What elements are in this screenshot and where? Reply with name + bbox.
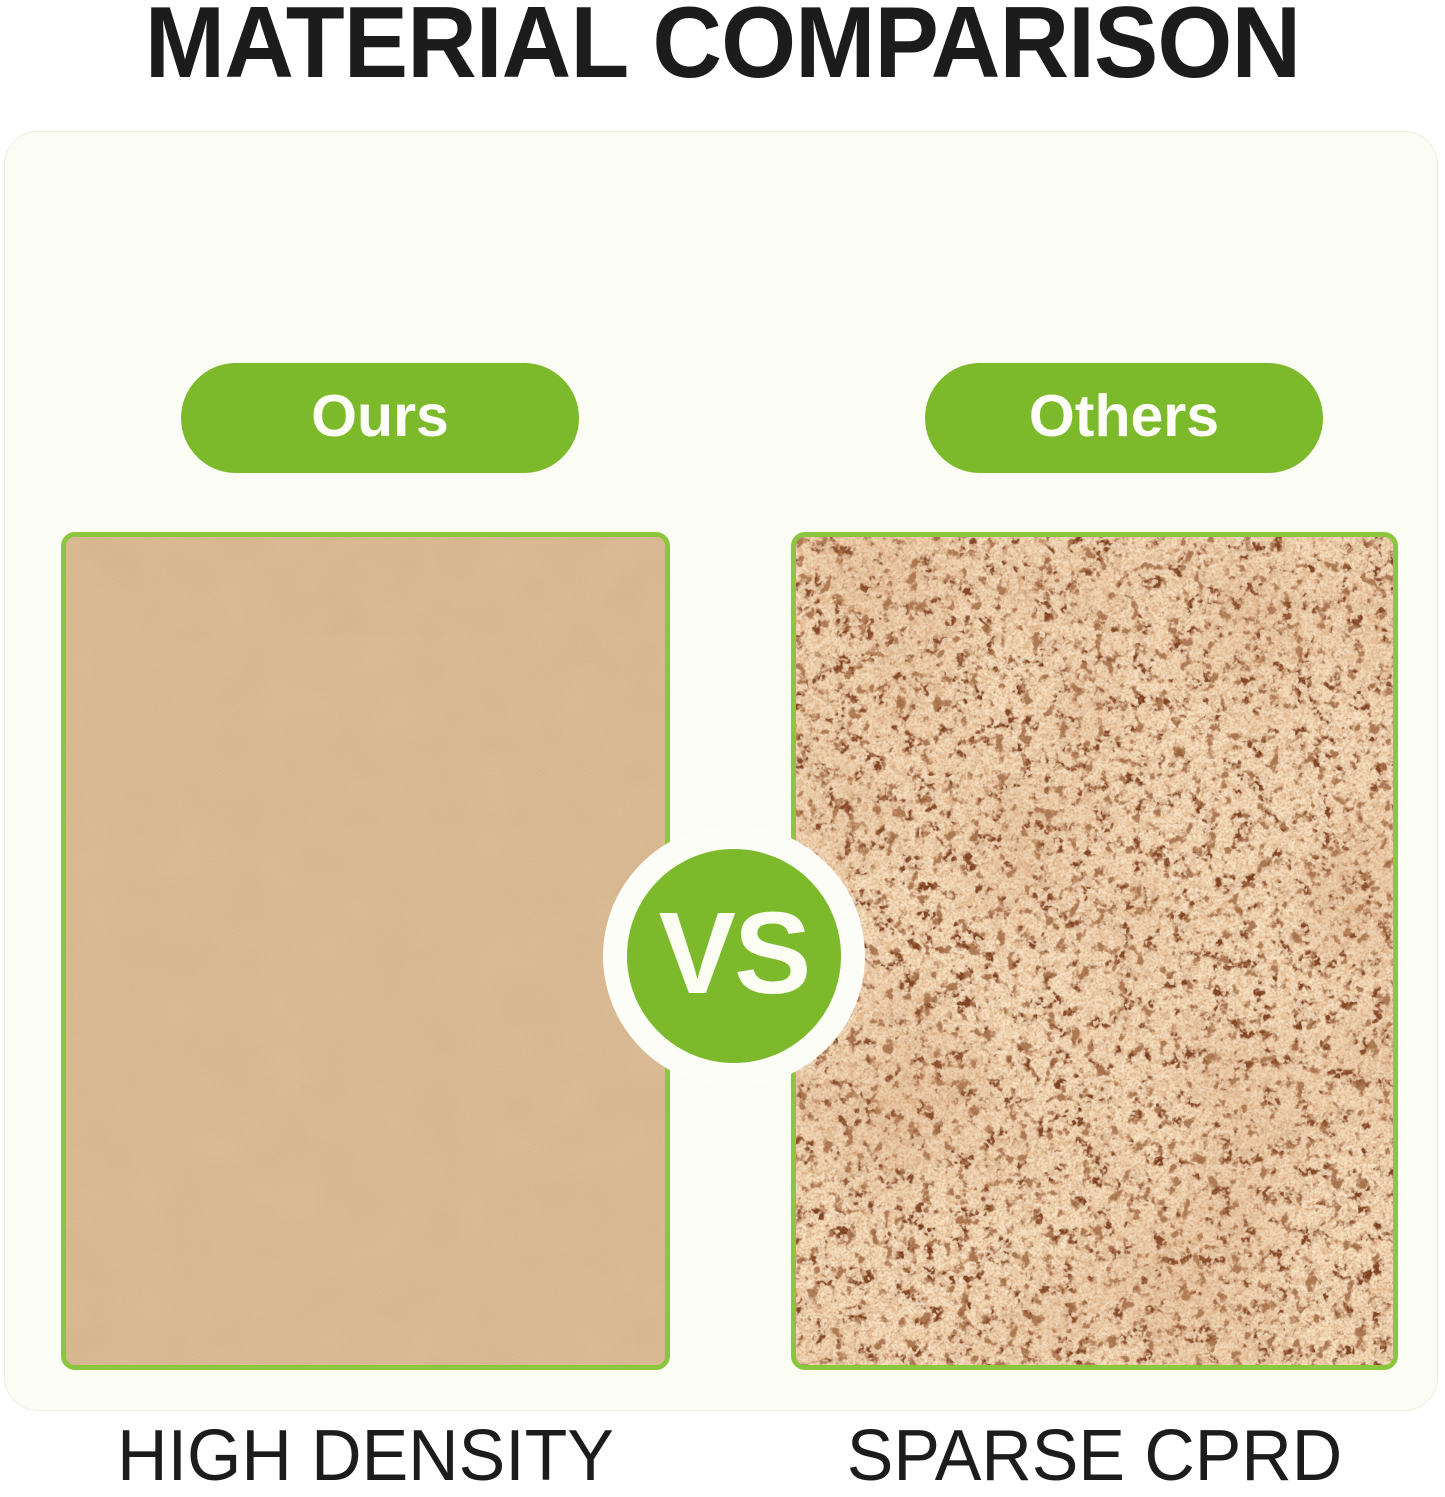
sample-image-ours xyxy=(61,532,670,1370)
comparison-card: Ours xyxy=(4,131,1438,1411)
vs-label: VS xyxy=(659,895,810,1018)
vs-badge: VS xyxy=(603,825,865,1087)
fine-dense-cork-texture-icon xyxy=(66,537,665,1365)
caption-others: SPARSE CPRD xyxy=(800,1415,1389,1497)
comparison-infographic: MATERIAL COMPARISON Ours xyxy=(0,0,1445,1416)
label-pill-others: Others xyxy=(925,363,1323,473)
caption-ours: HIGH DENSITY xyxy=(70,1415,661,1497)
vs-circle: VS xyxy=(627,849,841,1063)
coarse-sparse-cork-texture-icon xyxy=(796,537,1393,1365)
sample-image-others xyxy=(791,532,1398,1370)
pill-ours-label: Ours xyxy=(311,387,449,450)
page-title: MATERIAL COMPARISON xyxy=(33,0,1413,101)
pill-others-label: Others xyxy=(1029,387,1219,450)
label-pill-ours: Ours xyxy=(181,363,579,473)
